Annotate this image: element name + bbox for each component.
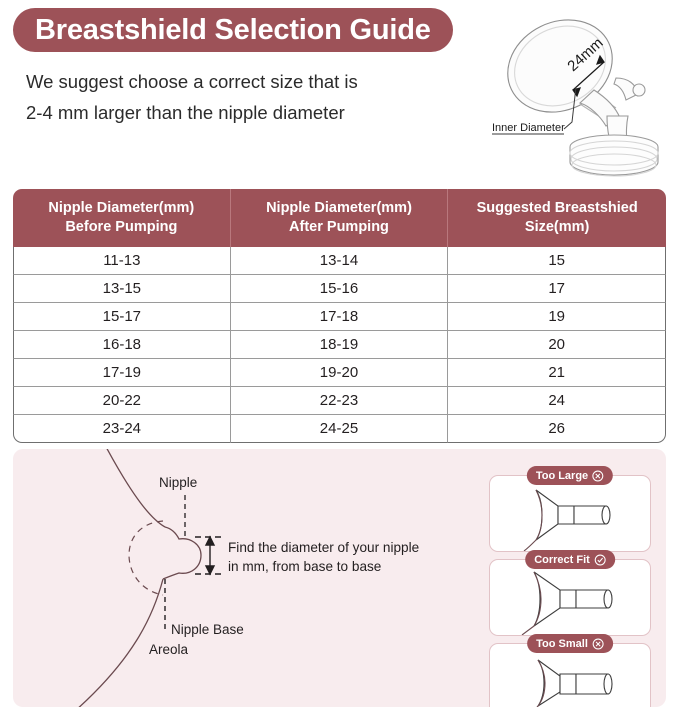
header-line-2: Size(mm) <box>452 218 662 237</box>
label-nipple: Nipple <box>159 475 197 490</box>
measurement-note: Find the diameter of your nipple in mm, … <box>228 538 438 576</box>
fit-card-too-large[interactable]: Too Large <box>489 475 651 552</box>
table-header-before-pumping: Nipple Diameter(mm) Before Pumping <box>13 189 231 247</box>
cell-before-pumping: 17-19 <box>13 359 231 387</box>
subtitle-line-2: 2-4 mm larger than the nipple diameter <box>26 97 358 128</box>
cell-before-pumping: 23-24 <box>13 415 231 443</box>
table-row: 20-22 22-23 24 <box>13 387 666 415</box>
cell-suggested-size: 20 <box>448 331 666 359</box>
cell-after-pumping: 18-19 <box>231 331 449 359</box>
header-line-2: Before Pumping <box>17 218 226 237</box>
cell-after-pumping: 24-25 <box>231 415 449 443</box>
cell-after-pumping: 22-23 <box>231 387 449 415</box>
table-row: 23-24 24-25 26 <box>13 415 666 443</box>
cell-suggested-size: 24 <box>448 387 666 415</box>
cell-before-pumping: 15-17 <box>13 303 231 331</box>
table-row: 15-17 17-18 19 <box>13 303 666 331</box>
cell-after-pumping: 13-14 <box>231 247 449 275</box>
fit-card-too-small[interactable]: Too Small <box>489 643 651 707</box>
header-line-1: Nipple Diameter(mm) <box>17 199 226 218</box>
page-title: Breastshield Selection Guide <box>35 14 431 47</box>
breastshield-illustration: 24mm Inner Diameter <box>476 4 679 184</box>
table-header-suggested-size: Suggested Breastshied Size(mm) <box>448 189 666 247</box>
subtitle-line-1: We suggest choose a correct size that is <box>26 66 358 97</box>
measurement-note-line-1: Find the diameter of your nipple <box>228 538 438 557</box>
cell-after-pumping: 15-16 <box>231 275 449 303</box>
cell-suggested-size: 19 <box>448 303 666 331</box>
table-row: 11-13 13-14 15 <box>13 247 666 275</box>
table-header-row: Nipple Diameter(mm) Before Pumping Nippl… <box>13 189 666 247</box>
table-header-after-pumping: Nipple Diameter(mm) After Pumping <box>231 189 449 247</box>
cell-suggested-size: 17 <box>448 275 666 303</box>
nipple-anatomy-diagram: Nipple Nipple Base Areola <box>13 449 473 707</box>
shield-fit-art-too-small <box>490 644 650 707</box>
shield-fit-art-too-large <box>490 476 650 551</box>
hero-caption: Inner Diameter <box>492 122 565 134</box>
table-row: 17-19 19-20 21 <box>13 359 666 387</box>
measurement-note-line-2: in mm, from base to base <box>228 557 438 576</box>
table-row: 16-18 18-19 20 <box>13 331 666 359</box>
page-title-banner: Breastshield Selection Guide <box>13 8 453 52</box>
cell-before-pumping: 20-22 <box>13 387 231 415</box>
header-line-1: Nipple Diameter(mm) <box>235 199 444 218</box>
cell-after-pumping: 17-18 <box>231 303 449 331</box>
subtitle-text: We suggest choose a correct size that is… <box>26 66 358 128</box>
table-row: 13-15 15-16 17 <box>13 275 666 303</box>
header-line-1: Suggested Breastshied <box>452 199 662 218</box>
cell-after-pumping: 19-20 <box>231 359 449 387</box>
label-nipple-base: Nipple Base <box>171 622 244 637</box>
cell-suggested-size: 26 <box>448 415 666 443</box>
cell-suggested-size: 15 <box>448 247 666 275</box>
cell-before-pumping: 13-15 <box>13 275 231 303</box>
fit-card-correct-fit[interactable]: Correct Fit <box>489 559 651 636</box>
header-line-2: After Pumping <box>235 218 444 237</box>
cell-before-pumping: 16-18 <box>13 331 231 359</box>
cell-before-pumping: 11-13 <box>13 247 231 275</box>
measurement-panel: Nipple Nipple Base Areola Too Large <box>13 449 666 707</box>
shield-fit-art-correct-fit <box>490 560 650 635</box>
cell-suggested-size: 21 <box>448 359 666 387</box>
size-table: Nipple Diameter(mm) Before Pumping Nippl… <box>13 189 666 443</box>
label-areola: Areola <box>149 642 189 657</box>
